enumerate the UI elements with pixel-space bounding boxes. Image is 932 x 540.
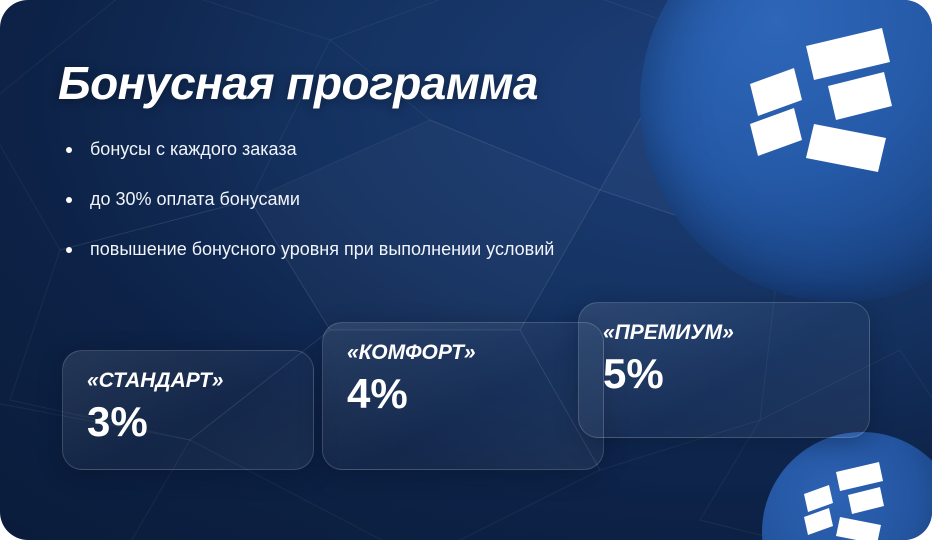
tier-card-value: 3% xyxy=(87,399,289,445)
tier-card-standard: «СТАНДАРТ» 3% xyxy=(62,350,314,470)
tier-card-value: 4% xyxy=(347,371,579,417)
tier-card-label: «СТАНДАРТ» xyxy=(87,369,289,393)
tier-card-comfort: «КОМФОРТ» 4% xyxy=(322,322,604,470)
tier-cards: «СТАНДАРТ» 3% «КОМФОРТ» 4% «ПРЕМИУМ» 5% xyxy=(0,0,932,540)
bonus-program-banner: Бонусная программа бонусы с каждого зака… xyxy=(0,0,932,540)
tier-card-label: «ПРЕМИУМ» xyxy=(603,321,845,345)
tier-card-premium: «ПРЕМИУМ» 5% xyxy=(578,302,870,438)
tier-card-label: «КОМФОРТ» xyxy=(347,341,579,365)
tier-card-value: 5% xyxy=(603,351,845,397)
